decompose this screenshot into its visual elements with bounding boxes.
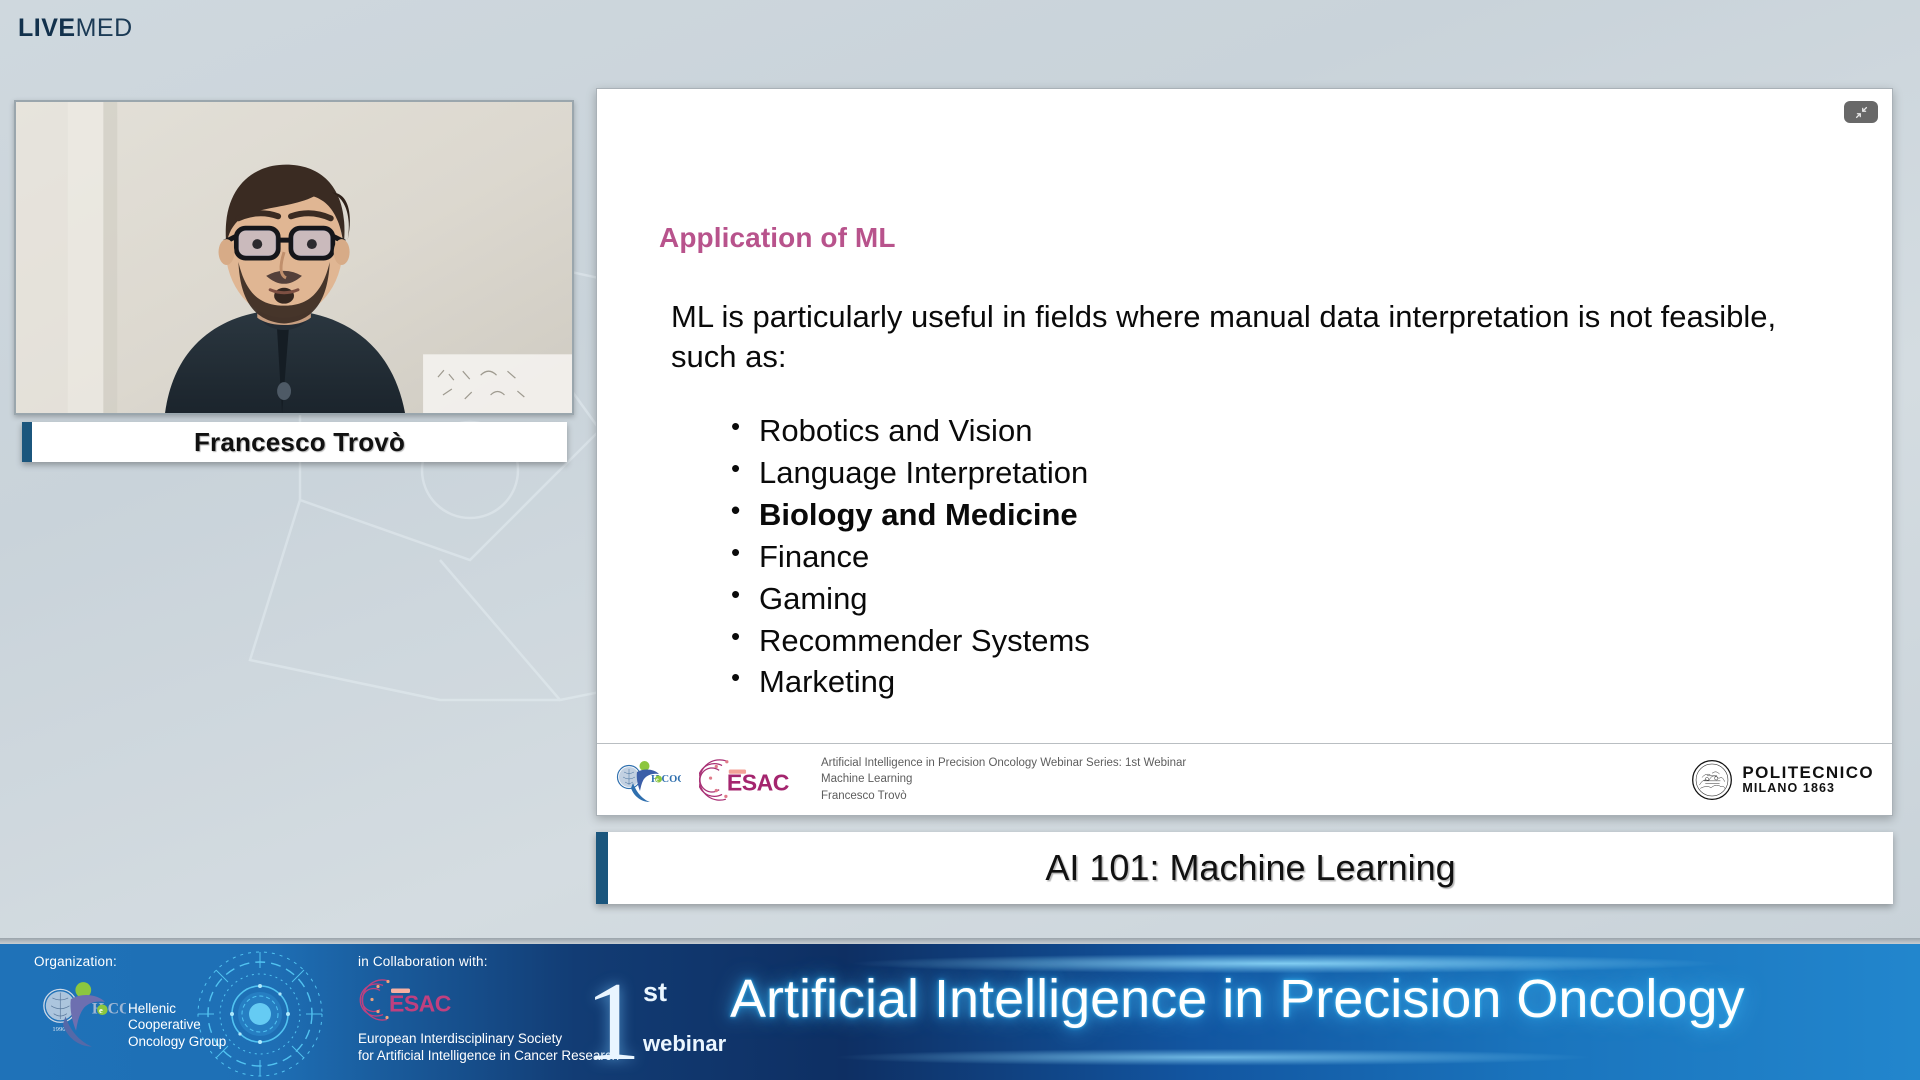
esac-logo: ESAC [358,974,468,1026]
brand-logo: LIVEMED [18,14,133,43]
esac-line-1: European Interdisciplinary Society [358,1030,619,1047]
webinar-banner: Organization: 1990 H e COG Hellenic Coop… [0,938,1920,1080]
hecog-line-2: Cooperative [128,1017,226,1033]
hecog-logo: H e COG [611,754,681,806]
footer-topic-line: Machine Learning [821,771,1186,787]
speaker-video[interactable] [14,100,574,415]
list-item: Biology and Medicine [731,494,1852,536]
webinar-number: 1 [585,973,641,1072]
slide-body: ML is particularly useful in fields wher… [671,297,1852,703]
banner-organization-block: Organization: 1990 H e COG Hellenic Coop… [34,954,226,1055]
slide-footer-text: Artificial Intelligence in Precision Onc… [821,755,1186,804]
svg-text:ESAC: ESAC [727,769,789,795]
svg-text:e: e [656,777,659,783]
talk-title-bar: AI 101: Machine Learning [596,832,1893,904]
brand-logo-live: LIVE [18,14,76,42]
svg-text:e: e [99,1005,103,1015]
list-item: Robotics and Vision [731,410,1852,452]
presentation-slide: Application of ML ML is particularly use… [596,88,1893,816]
slide-footer: H e COG ESAC Artificial Intelligence in … [597,743,1892,815]
exit-fullscreen-icon[interactable] [1844,101,1878,123]
list-item: Marketing [731,661,1852,703]
svg-text:COG: COG [108,1001,126,1018]
brand-logo-med: MED [76,14,133,42]
webinar-word: webinar [643,1032,726,1056]
list-item: Gaming [731,578,1852,620]
banner-title: Artificial Intelligence in Precision Onc… [730,968,1912,1030]
slide-title: Application of ML [659,222,896,254]
webinar-ordinal: 1 st webinar [585,973,726,1072]
footer-series-line: Artificial Intelligence in Precision Onc… [821,755,1186,771]
svg-text:COG: COG [662,774,682,785]
footer-speaker-line: Francesco Trovò [821,788,1186,804]
collaboration-caption: in Collaboration with: [358,954,619,969]
politecnico-logo: POLITECNICO MILANO 1863 [1691,759,1874,801]
speaker-panel: Francesco Trovò [14,100,574,500]
organization-caption: Organization: [34,954,226,969]
esac-line-2: for Artificial Intelligence in Cancer Re… [358,1047,619,1064]
list-item: Language Interpretation [731,452,1852,494]
talk-title: AI 101: Machine Learning [1045,847,1455,889]
list-item: Finance [731,536,1852,578]
slide-lead-text: ML is particularly useful in fields wher… [671,297,1841,376]
esac-logo: ESAC [699,756,795,804]
hecog-line-1: Hellenic [128,1001,226,1017]
speaker-name: Francesco Trovò [194,427,405,458]
banner-collaboration-block: in Collaboration with: ESAC European Int… [358,954,619,1064]
hecog-logo: 1990 H e COG [34,975,126,1055]
politecnico-name: POLITECNICO [1742,764,1874,782]
slide-bullet-list: Robotics and Vision Language Interpretat… [671,410,1852,703]
list-item: Recommender Systems [731,620,1852,662]
webinar-ordinal-suffix: st [643,979,726,1006]
politecnico-subtitle: MILANO 1863 [1742,781,1874,795]
hecog-line-3: Oncology Group [128,1034,226,1050]
svg-text:ESAC: ESAC [389,991,451,1017]
speaker-nameplate: Francesco Trovò [22,422,567,462]
